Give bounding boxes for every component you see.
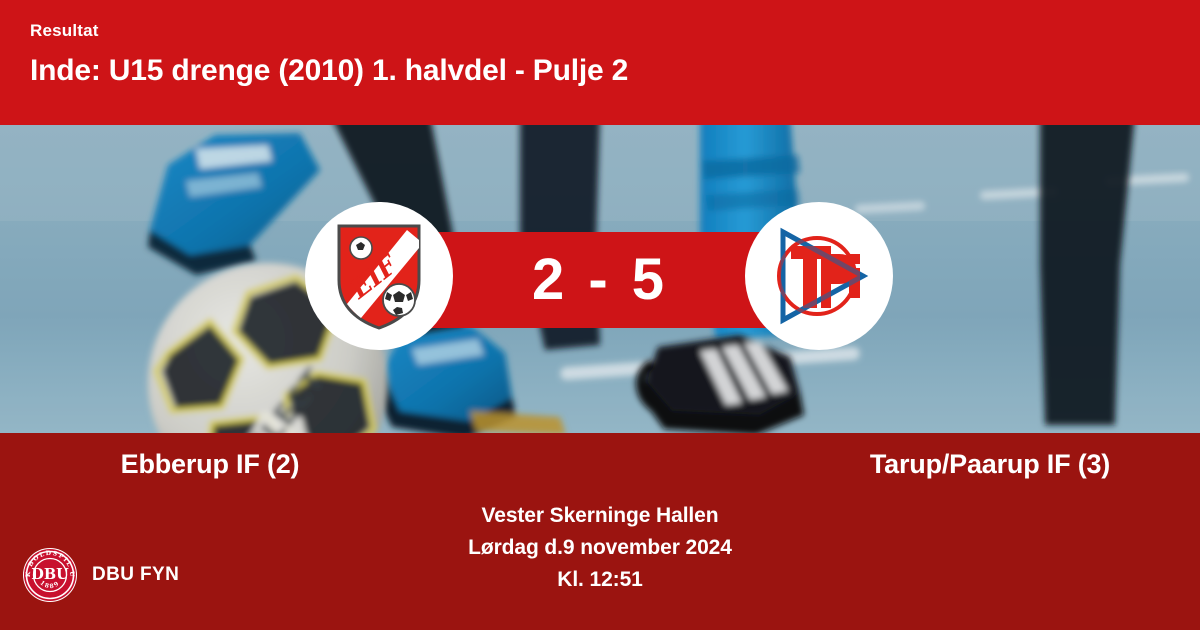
home-team-crest: EIF xyxy=(305,202,453,350)
brand-footer: DANSK BOLDSPIL UNION 1889 DBU DBU FYN xyxy=(22,546,179,604)
team-names-row: Ebberup IF (2) Tarup/Paarup IF (3) xyxy=(0,433,1200,495)
header-banner: Resultat Inde: U15 drenge (2010) 1. halv… xyxy=(0,0,1200,125)
time-text: Kl. 12:51 xyxy=(0,564,1200,596)
score-value: 2 - 5 xyxy=(532,251,668,309)
venue-text: Vester Skerninge Hallen xyxy=(0,500,1200,532)
dbu-seal-icon: DANSK BOLDSPIL UNION 1889 DBU xyxy=(22,547,78,603)
match-info: Vester Skerninge Hallen Lørdag d.9 novem… xyxy=(0,500,1200,596)
date-text: Lørdag d.9 november 2024 xyxy=(0,532,1200,564)
brand-label: DBU FYN xyxy=(92,564,179,586)
page-title: Inde: U15 drenge (2010) 1. halvdel - Pul… xyxy=(30,54,1200,89)
home-team-name: Ebberup IF (2) xyxy=(0,449,600,480)
away-team-name: Tarup/Paarup IF (3) xyxy=(600,449,1200,480)
result-graphic: Resultat Inde: U15 drenge (2010) 1. halv… xyxy=(0,0,1200,630)
result-kicker: Resultat xyxy=(30,22,1200,41)
svg-text:DBU: DBU xyxy=(31,566,69,583)
away-team-crest: TPI xyxy=(745,202,893,350)
